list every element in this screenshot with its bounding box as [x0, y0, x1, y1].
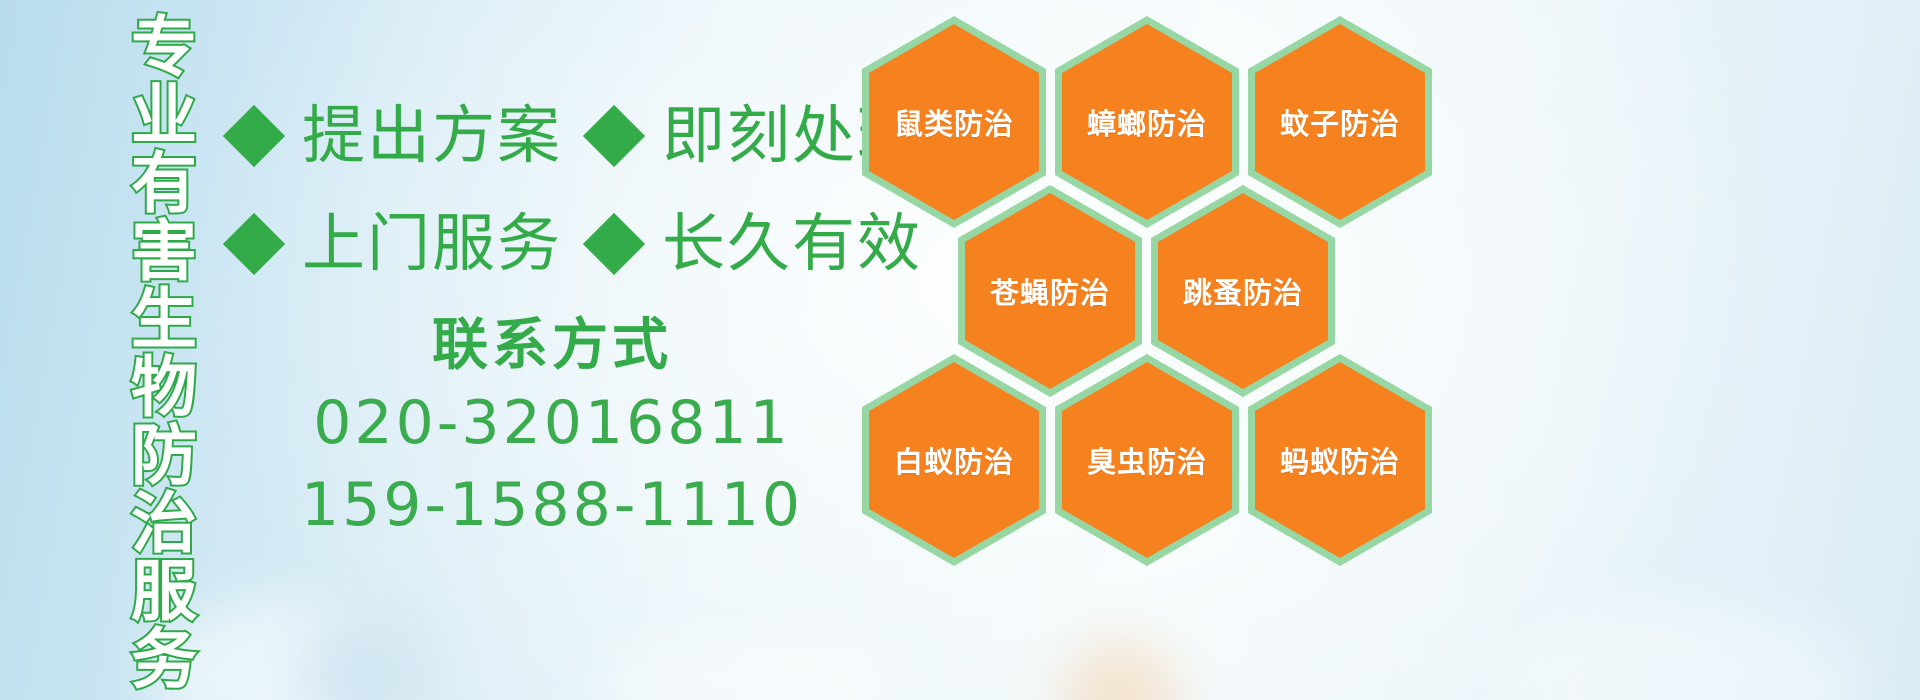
vertical-headline-char: 专: [131, 14, 197, 82]
service-hex-cell[interactable]: 臭虫防治: [1055, 354, 1239, 566]
background-blob: [1060, 640, 1180, 700]
service-hex-label: 白蚁防治: [894, 439, 1014, 481]
contact-title: 联系方式: [232, 310, 872, 382]
diamond-bullet-icon: [223, 213, 285, 275]
vertical-headline-char: 生: [131, 286, 197, 354]
service-hex-cell[interactable]: 白蚁防治: [862, 354, 1046, 566]
service-hex-label: 臭虫防治: [1087, 439, 1207, 481]
feature-row: 提出方案 即刻处理: [232, 82, 872, 190]
service-hex-inner: 蚂蚁防治: [1255, 362, 1425, 558]
service-hex-label: 蟑螂防治: [1087, 101, 1207, 143]
vertical-headline: 专 业 有 害 生 物 防 治 服 务: [112, 14, 216, 574]
promo-banner: 专 业 有 害 生 物 防 治 服 务 提出方案 即刻处理 上门服务: [0, 0, 1920, 700]
phone-number-landline[interactable]: 020-32016811: [232, 382, 872, 464]
service-hex-label: 蚊子防治: [1280, 101, 1400, 143]
service-hex-inner: 鼠类防治: [869, 24, 1039, 220]
feature-row: 上门服务 长久有效: [232, 190, 872, 298]
service-hex-label: 蚂蚁防治: [1280, 439, 1400, 481]
service-hex-inner: 白蚁防治: [869, 362, 1039, 558]
feature-list: 提出方案 即刻处理 上门服务 长久有效: [232, 82, 872, 298]
diamond-bullet-icon: [223, 105, 285, 167]
service-hex-inner: 蟑螂防治: [1062, 24, 1232, 220]
service-hex-cell[interactable]: 鼠类防治: [862, 16, 1046, 228]
vertical-headline-char: 防: [131, 422, 197, 490]
service-hex-inner: 跳蚤防治: [1158, 193, 1328, 389]
background-blob: [300, 620, 420, 700]
service-hex-cell[interactable]: 跳蚤防治: [1151, 185, 1335, 397]
vertical-headline-char: 物: [131, 354, 197, 422]
service-hex-inner: 臭虫防治: [1062, 362, 1232, 558]
service-hex-label: 跳蚤防治: [1183, 270, 1303, 312]
feature-label: 提出方案: [302, 103, 562, 169]
service-hex-inner: 苍蝇防治: [965, 193, 1135, 389]
diamond-bullet-icon: [583, 213, 645, 275]
service-hex-label: 苍蝇防治: [990, 270, 1110, 312]
background-blob: [1500, 600, 1860, 700]
feature-item: 提出方案: [232, 103, 562, 169]
feature-label: 上门服务: [302, 211, 562, 277]
vertical-headline-char: 务: [131, 626, 197, 694]
background-blob: [600, 630, 900, 700]
vertical-headline-char: 有: [131, 150, 197, 218]
service-hex-cell[interactable]: 苍蝇防治: [958, 185, 1142, 397]
service-hex-inner: 蚊子防治: [1255, 24, 1425, 220]
diamond-bullet-icon: [583, 105, 645, 167]
feature-item: 上门服务: [232, 211, 562, 277]
phone-number-mobile[interactable]: 159-1588-1110: [232, 464, 872, 546]
vertical-headline-char: 服: [131, 558, 197, 626]
service-hex-cell[interactable]: 蚂蚁防治: [1248, 354, 1432, 566]
service-hex-cell[interactable]: 蚊子防治: [1248, 16, 1432, 228]
contact-block: 联系方式 020-32016811 159-1588-1110: [232, 310, 872, 546]
vertical-headline-char: 治: [131, 490, 197, 558]
service-hex-cell[interactable]: 蟑螂防治: [1055, 16, 1239, 228]
service-hex-label: 鼠类防治: [894, 101, 1014, 143]
vertical-headline-char: 害: [131, 218, 197, 286]
vertical-headline-char: 业: [131, 82, 197, 150]
service-hex-grid: 鼠类防治 蟑螂防治 蚊子防治 苍蝇防治 跳蚤防治 白蚁防治: [862, 8, 1462, 553]
